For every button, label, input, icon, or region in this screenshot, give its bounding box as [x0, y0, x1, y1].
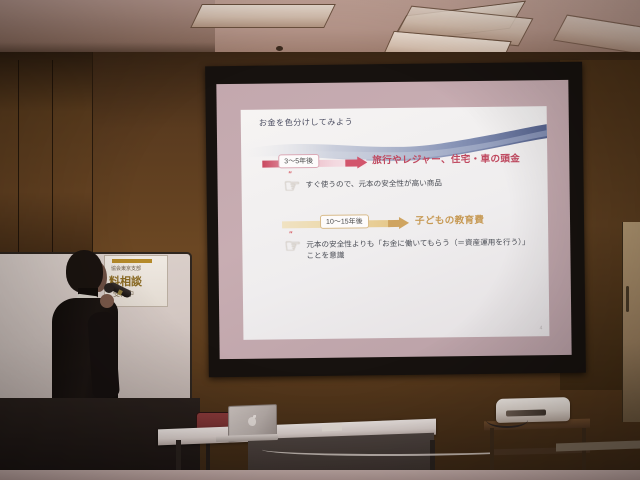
row-note: 元本の安全性よりも「お金に働いてもらう（＝資産運用を行う）」 [306, 236, 529, 250]
pointing-hand-icon: ☞ [284, 237, 301, 256]
slide-row-2: 10〜15年後 子どもの教育費 [242, 214, 548, 218]
sprinkler-icon [276, 46, 283, 51]
timeline-label: 10〜15年後 [320, 214, 369, 229]
arrow-right-icon [399, 217, 409, 229]
pointing-hand-icon: ☞ [283, 177, 300, 196]
floor [0, 470, 640, 480]
ceiling-light-panel [190, 4, 336, 28]
projection-screen: お金を色分けしてみよう 3〜5年後 旅行やレジャー、住宅・車の頭金 ′′ ☞ す… [205, 62, 586, 378]
presenter-head [66, 250, 103, 293]
seminar-room-photo: お金を色分けしてみよう 3〜5年後 旅行やレジャー、住宅・車の頭金 ′′ ☞ す… [0, 0, 640, 480]
left-wall-panel [0, 52, 93, 252]
slide-page-number: 4 [540, 325, 543, 331]
row-note-continued: ことを意識 [306, 250, 344, 262]
presenter-hand [100, 294, 114, 308]
projector-cable [486, 412, 528, 428]
projection-area: お金を色分けしてみよう 3〜5年後 旅行やレジャー、住宅・車の頭金 ′′ ☞ す… [216, 80, 571, 359]
door-handle-icon[interactable] [626, 286, 629, 312]
slide-row-1: 3〜5年後 旅行やレジャー、住宅・車の頭金 [241, 153, 547, 157]
row-heading: 旅行やレジャー、住宅・車の頭金 [372, 150, 520, 166]
microphone-head-icon [104, 283, 114, 293]
paper-sheet [322, 423, 342, 431]
wall-seam [18, 60, 19, 260]
apple-logo-icon [248, 417, 256, 426]
room-door[interactable] [622, 222, 640, 422]
timeline-label: 3〜5年後 [278, 154, 319, 168]
ceiling-left-section [0, 0, 215, 60]
row-note: すぐ使うので、元本の安全性が高い商品 [305, 177, 442, 190]
row-heading: 子どもの教育費 [415, 212, 484, 227]
presentation-slide: お金を色分けしてみよう 3〜5年後 旅行やレジャー、住宅・車の頭金 ′′ ☞ す… [241, 106, 550, 340]
apple-logo-leaf-icon [253, 415, 256, 418]
wall-seam [52, 60, 53, 260]
arrow-right-icon [357, 156, 367, 168]
slide-title: お金を色分けしてみよう [259, 116, 353, 129]
